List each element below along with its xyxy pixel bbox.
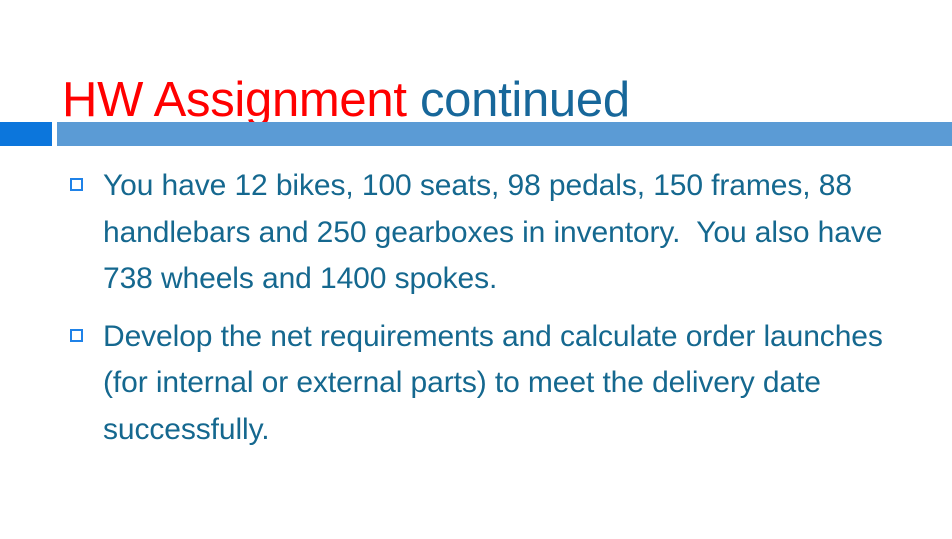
hollow-square-bullet-icon — [70, 178, 83, 191]
bullet-list: You have 12 bikes, 100 seats, 98 pedals,… — [0, 163, 952, 464]
list-item: You have 12 bikes, 100 seats, 98 pedals,… — [0, 163, 952, 303]
slide: HW Assignment continued You have 12 bike… — [0, 0, 952, 539]
title-divider — [0, 122, 952, 146]
list-item-text: Develop the net requirements and calcula… — [103, 320, 891, 446]
list-item-text: You have 12 bikes, 100 seats, 98 pedals,… — [103, 169, 891, 295]
list-item: Develop the net requirements and calcula… — [0, 314, 952, 454]
hollow-square-bullet-icon — [70, 329, 83, 342]
divider-accent-block — [0, 122, 52, 146]
divider-bar — [57, 122, 952, 146]
page-title-highlight: HW Assignment — [62, 73, 407, 127]
page-title-rest: continued — [407, 73, 630, 127]
